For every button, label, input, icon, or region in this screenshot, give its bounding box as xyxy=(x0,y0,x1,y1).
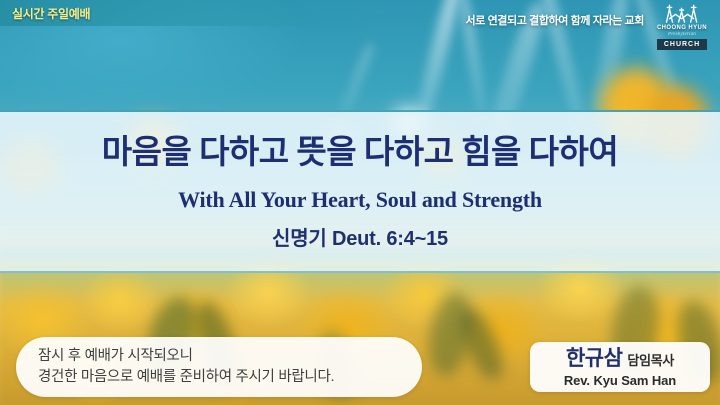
title-band: 마음을 다하고 뜻을 다하고 힘을 다하여 With All Your Hear… xyxy=(0,110,720,273)
sermon-title-english: With All Your Heart, Soul and Strength xyxy=(178,189,542,211)
church-people-cross-icon xyxy=(654,4,710,23)
pastor-name-korean: 한규삼 xyxy=(566,348,622,369)
sermon-title-korean: 마음을 다하고 뜻을 다하고 힘을 다하여 xyxy=(102,137,619,170)
notice-line-2: 경건한 마음으로 예배를 준비하여 주시기 바랍니다. xyxy=(38,367,422,388)
church-logo: CHOONG HYUN Presbyterian CHURCH xyxy=(650,4,714,50)
pastor-name-english: Rev. Kyu Sam Han xyxy=(564,374,676,387)
scripture-reference: 신명기 Deut. 6:4~15 xyxy=(272,229,448,249)
notice-line-1: 잠시 후 예배가 시작되오니 xyxy=(38,346,422,367)
logo-church-text: CHURCH xyxy=(657,39,707,50)
pastor-korean-row: 한규삼 담임목사 xyxy=(566,348,674,369)
church-tagline: 서로 연결되고 결합하여 함께 자라는 교회 xyxy=(465,12,644,28)
pastor-role-korean: 담임목사 xyxy=(627,354,674,367)
logo-script-text: Presbyterian xyxy=(668,32,696,38)
live-service-label: 실시간 주일예배 xyxy=(12,5,90,22)
pastor-name-box: 한규삼 담임목사 Rev. Kyu Sam Han xyxy=(530,342,710,392)
broadcast-slide: 실시간 주일예배 서로 연결되고 결합하여 함께 자라는 교회 CHOONG H… xyxy=(0,0,720,405)
logo-name-text: CHOONG HYUN xyxy=(657,24,707,32)
service-notice-box: 잠시 후 예배가 시작되오니 경건한 마음으로 예배를 준비하여 주시기 바랍니… xyxy=(16,337,422,397)
title-band-content: 마음을 다하고 뜻을 다하고 힘을 다하여 With All Your Hear… xyxy=(0,112,720,271)
